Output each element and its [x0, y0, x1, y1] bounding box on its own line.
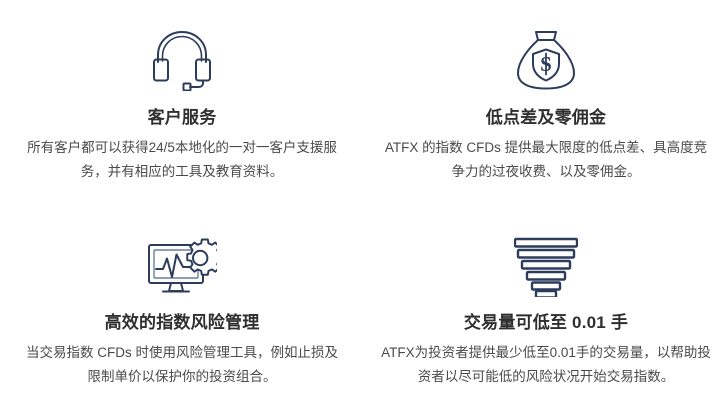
- feature-description: 当交易指数 CFDs 时使用风险管理工具，例如止损及限制单价以保护你的投资组合。: [22, 341, 342, 387]
- feature-title: 交易量可低至 0.01 手: [464, 313, 628, 333]
- funnel-bars-icon: [510, 233, 582, 301]
- headset-icon: [146, 26, 218, 94]
- feature-description: ATFX 的指数 CFDs 提供最大限度的低点差、具高度竞争力的过夜收费、以及零…: [381, 136, 711, 182]
- feature-title: 高效的指数风险管理: [105, 313, 260, 333]
- features-grid: 客户服务 所有客户都可以获得24/5本地化的一对一客户支援服务，并有相应的工具及…: [0, 0, 728, 413]
- feature-card-risk-management: 高效的指数风险管理 当交易指数 CFDs 时使用风险管理工具，例如止损及限制单价…: [0, 206, 364, 413]
- feature-description: 所有客户都可以获得24/5本地化的一对一客户支援服务，并有相应的工具及教育资料。: [22, 136, 342, 182]
- feature-card-min-lot-size: 交易量可低至 0.01 手 ATFX为投资者提供最少低至0.01手的交易量，以帮…: [364, 206, 728, 413]
- feature-title: 低点差及零佣金: [486, 108, 606, 128]
- money-bag-shield-dollar-icon: S: [510, 26, 582, 94]
- feature-title: 客户服务: [148, 108, 217, 128]
- feature-card-customer-service: 客户服务 所有客户都可以获得24/5本地化的一对一客户支援服务，并有相应的工具及…: [0, 0, 364, 206]
- feature-description: ATFX为投资者提供最少低至0.01手的交易量，以帮助投资者以尽可能低的风险状况…: [381, 341, 711, 387]
- monitor-chart-gear-icon: [146, 233, 218, 301]
- feature-card-low-spread: S 低点差及零佣金 ATFX 的指数 CFDs 提供最大限度的低点差、具高度竞争…: [364, 0, 728, 206]
